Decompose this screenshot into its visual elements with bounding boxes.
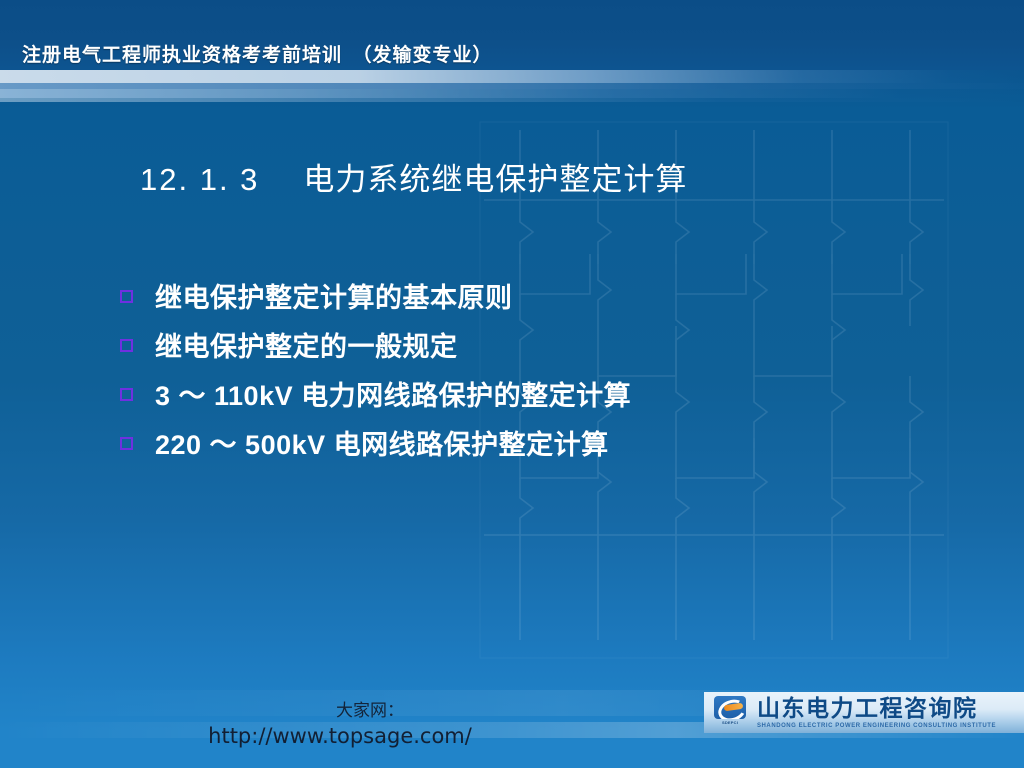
list-item-label: 继电保护整定的一般规定 <box>155 325 458 364</box>
header-ribbon-tertiary <box>0 89 1024 98</box>
list-item-label: 3 ～ 110kV 电力网线路保护的整定计算 <box>155 374 631 413</box>
logo-text: 山东电力工程咨询院 SHANDONG ELECTRIC POWER ENGINE… <box>757 697 996 729</box>
square-bullet-icon <box>120 290 133 303</box>
square-bullet-icon <box>120 388 133 401</box>
square-bullet-icon <box>120 339 133 352</box>
list-item[interactable]: 继电保护整定的一般规定 <box>120 321 940 368</box>
slide-canvas: 注册电气工程师执业资格考考前培训 （发输变专业） 12. 1. 3电力系统继电保… <box>0 0 1024 768</box>
list-item[interactable]: 3 ～ 110kV 电力网线路保护的整定计算 <box>120 370 940 417</box>
site-watermark-url: http://www.topsage.com/ <box>0 722 680 750</box>
logo-abbreviation: SDEPCI <box>722 720 738 726</box>
logo-mark-icon: SDEPCI <box>709 696 751 729</box>
list-item-label: 继电保护整定计算的基本原则 <box>155 276 513 315</box>
square-bullet-icon <box>120 437 133 450</box>
header-ribbon-quaternary <box>0 98 1024 102</box>
logo-swoosh-icon <box>714 696 746 719</box>
page-title-number: 12. 1. 3 <box>140 162 259 197</box>
company-logo: SDEPCI 山东电力工程咨询院 SHANDONG ELECTRIC POWER… <box>704 692 1024 733</box>
site-watermark: 大家网： http://www.topsage.com/ <box>0 700 680 750</box>
list-item[interactable]: 220 ～ 500kV 电网线路保护整定计算 <box>120 419 940 466</box>
list-item[interactable]: 继电保护整定计算的基本原则 <box>120 272 940 319</box>
header-ribbon-primary <box>0 70 1024 83</box>
site-watermark-name: 大家网： <box>60 700 680 722</box>
bullet-list: 继电保护整定计算的基本原则 继电保护整定的一般规定 3 ～ 110kV 电力网线… <box>120 272 940 468</box>
logo-name-en: SHANDONG ELECTRIC POWER ENGINEERING CONS… <box>757 723 996 729</box>
header-title: 注册电气工程师执业资格考考前培训 （发输变专业） <box>22 40 493 67</box>
page-title: 12. 1. 3电力系统继电保护整定计算 <box>140 154 687 199</box>
page-title-text: 电力系统继电保护整定计算 <box>303 162 687 197</box>
list-item-label: 220 ～ 500kV 电网线路保护整定计算 <box>155 423 609 462</box>
logo-name-cn: 山东电力工程咨询院 <box>757 697 996 720</box>
